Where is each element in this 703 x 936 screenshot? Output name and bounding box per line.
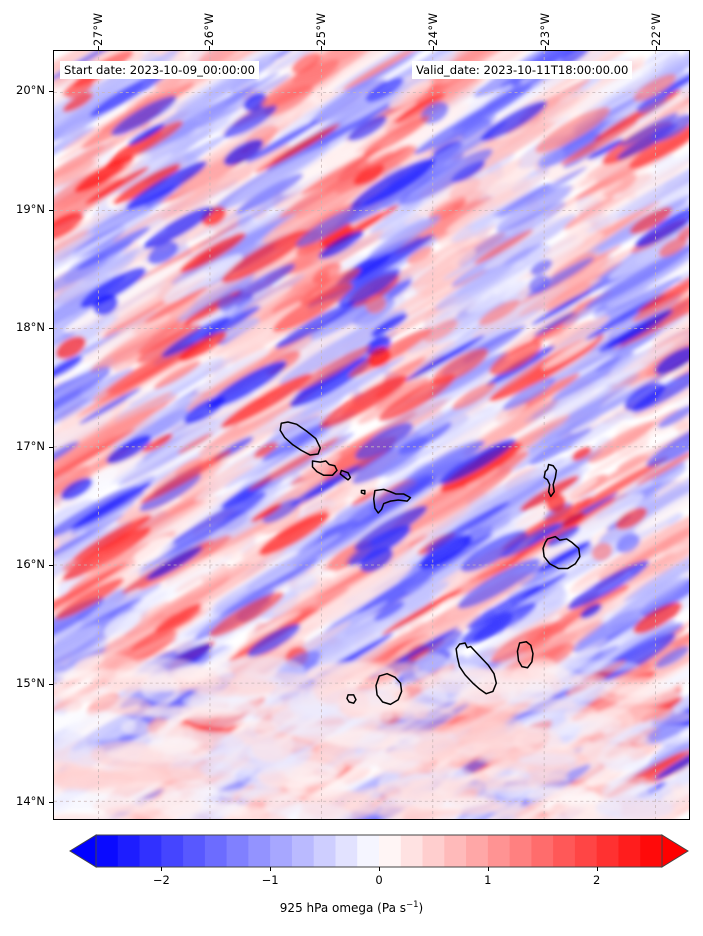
x-tick-label-1: 26°W — [202, 2, 216, 46]
omega-cell — [106, 743, 210, 763]
omega-map-figure: 27°W26°W25°W24°W23°W22°W 14°N15°N16°N17°… — [0, 0, 703, 936]
colorbar-swatch — [292, 835, 314, 867]
omega-cell — [562, 661, 640, 672]
y-tick-label-6: 20°N — [0, 83, 45, 97]
colorbar-tick-label-0: −2 — [141, 873, 181, 887]
omega-heatmap-field — [54, 51, 689, 819]
omega-cell — [425, 668, 530, 695]
colorbar-tick-mark-4 — [597, 867, 598, 871]
omega-cell — [134, 796, 203, 819]
omega-cell — [141, 674, 180, 702]
omega-cell — [363, 722, 466, 734]
omega-cell — [489, 802, 553, 816]
colorbar-swatch — [597, 835, 619, 867]
colorbar-tick-mark-2 — [379, 867, 380, 871]
colorbar-swatch — [248, 835, 270, 867]
colorbar-swatch — [575, 835, 597, 867]
colorbar-title-exponent: −1 — [406, 900, 419, 910]
omega-cell — [586, 708, 689, 726]
omega-cell — [414, 737, 506, 761]
colorbar-tick-mark-1 — [270, 867, 271, 871]
colorbar-swatch — [618, 835, 640, 867]
colorbar-swatch — [510, 835, 532, 867]
colorbar-title-main: 925 hPa omega (Pa s — [280, 901, 406, 915]
omega-cell — [514, 727, 561, 755]
colorbar[interactable] — [68, 833, 690, 869]
colorbar-swatch — [488, 835, 510, 867]
colorbar-extend-max-arrow — [662, 835, 688, 867]
y-tick-label-2: 16°N — [0, 557, 45, 571]
colorbar-swatch — [270, 835, 292, 867]
x-tick-label-0: 27°W — [91, 2, 105, 46]
omega-cell — [145, 707, 243, 719]
y-tick-label-1: 15°N — [0, 676, 45, 690]
omega-cell — [564, 705, 597, 724]
colorbar-tick-label-1: −1 — [250, 873, 290, 887]
omega-cell — [99, 768, 206, 782]
omega-cell — [55, 699, 83, 712]
colorbar-swatch — [140, 835, 162, 867]
omega-cell — [251, 734, 292, 763]
colorbar-swatch — [314, 835, 336, 867]
omega-cell — [376, 779, 483, 801]
colorbar-swatch — [640, 835, 662, 867]
omega-cell — [604, 677, 676, 696]
colorbar-swatch — [205, 835, 227, 867]
colorbar-tick-label-4: 2 — [577, 873, 617, 887]
colorbar-swatch — [379, 835, 401, 867]
omega-cell — [235, 720, 278, 730]
colorbar-tick-mark-3 — [488, 867, 489, 871]
colorbar-swatch — [401, 835, 423, 867]
colorbar-tick-mark-0 — [161, 867, 162, 871]
omega-cell — [313, 673, 347, 705]
colorbar-swatch — [531, 835, 553, 867]
colorbar-swatch — [466, 835, 488, 867]
omega-cell — [518, 753, 577, 766]
y-tick-label-3: 17°N — [0, 439, 45, 453]
colorbar-swatch — [444, 835, 466, 867]
y-tick-label-0: 14°N — [0, 794, 45, 808]
colorbar-swatch — [553, 835, 575, 867]
colorbar-swatch — [161, 835, 183, 867]
colorbar-swatch — [357, 835, 379, 867]
colorbar-swatch — [423, 835, 445, 867]
colorbar-swatch — [118, 835, 140, 867]
omega-cell — [189, 676, 277, 696]
y-tick-label-4: 18°N — [0, 320, 45, 334]
colorbar-swatch — [335, 835, 357, 867]
start-date-annotation: Start date: 2023-10-09_00:00:00 — [60, 61, 259, 79]
valid-date-annotation: Valid_date: 2023-10-11T18:00:00.00 — [412, 61, 632, 79]
colorbar-tick-label-2: 0 — [359, 873, 399, 887]
colorbar-tick-label-3: 1 — [468, 873, 508, 887]
omega-cell — [438, 702, 529, 716]
x-tick-label-5: 22°W — [649, 2, 663, 46]
colorbar-extend-min-arrow — [70, 835, 96, 867]
map-plot-area[interactable] — [53, 50, 690, 820]
omega-cell — [286, 776, 348, 798]
x-tick-label-4: 23°W — [538, 2, 552, 46]
x-tick-label-2: 25°W — [314, 2, 328, 46]
x-tick-label-3: 24°W — [426, 2, 440, 46]
colorbar-swatch — [227, 835, 249, 867]
colorbar-title-tail: ) — [419, 901, 424, 915]
y-tick-label-5: 19°N — [0, 202, 45, 216]
omega-cell — [341, 704, 420, 720]
colorbar-swatch — [96, 835, 118, 867]
colorbar-swatch — [183, 835, 205, 867]
colorbar-title: 925 hPa omega (Pa s−1) — [0, 900, 703, 915]
